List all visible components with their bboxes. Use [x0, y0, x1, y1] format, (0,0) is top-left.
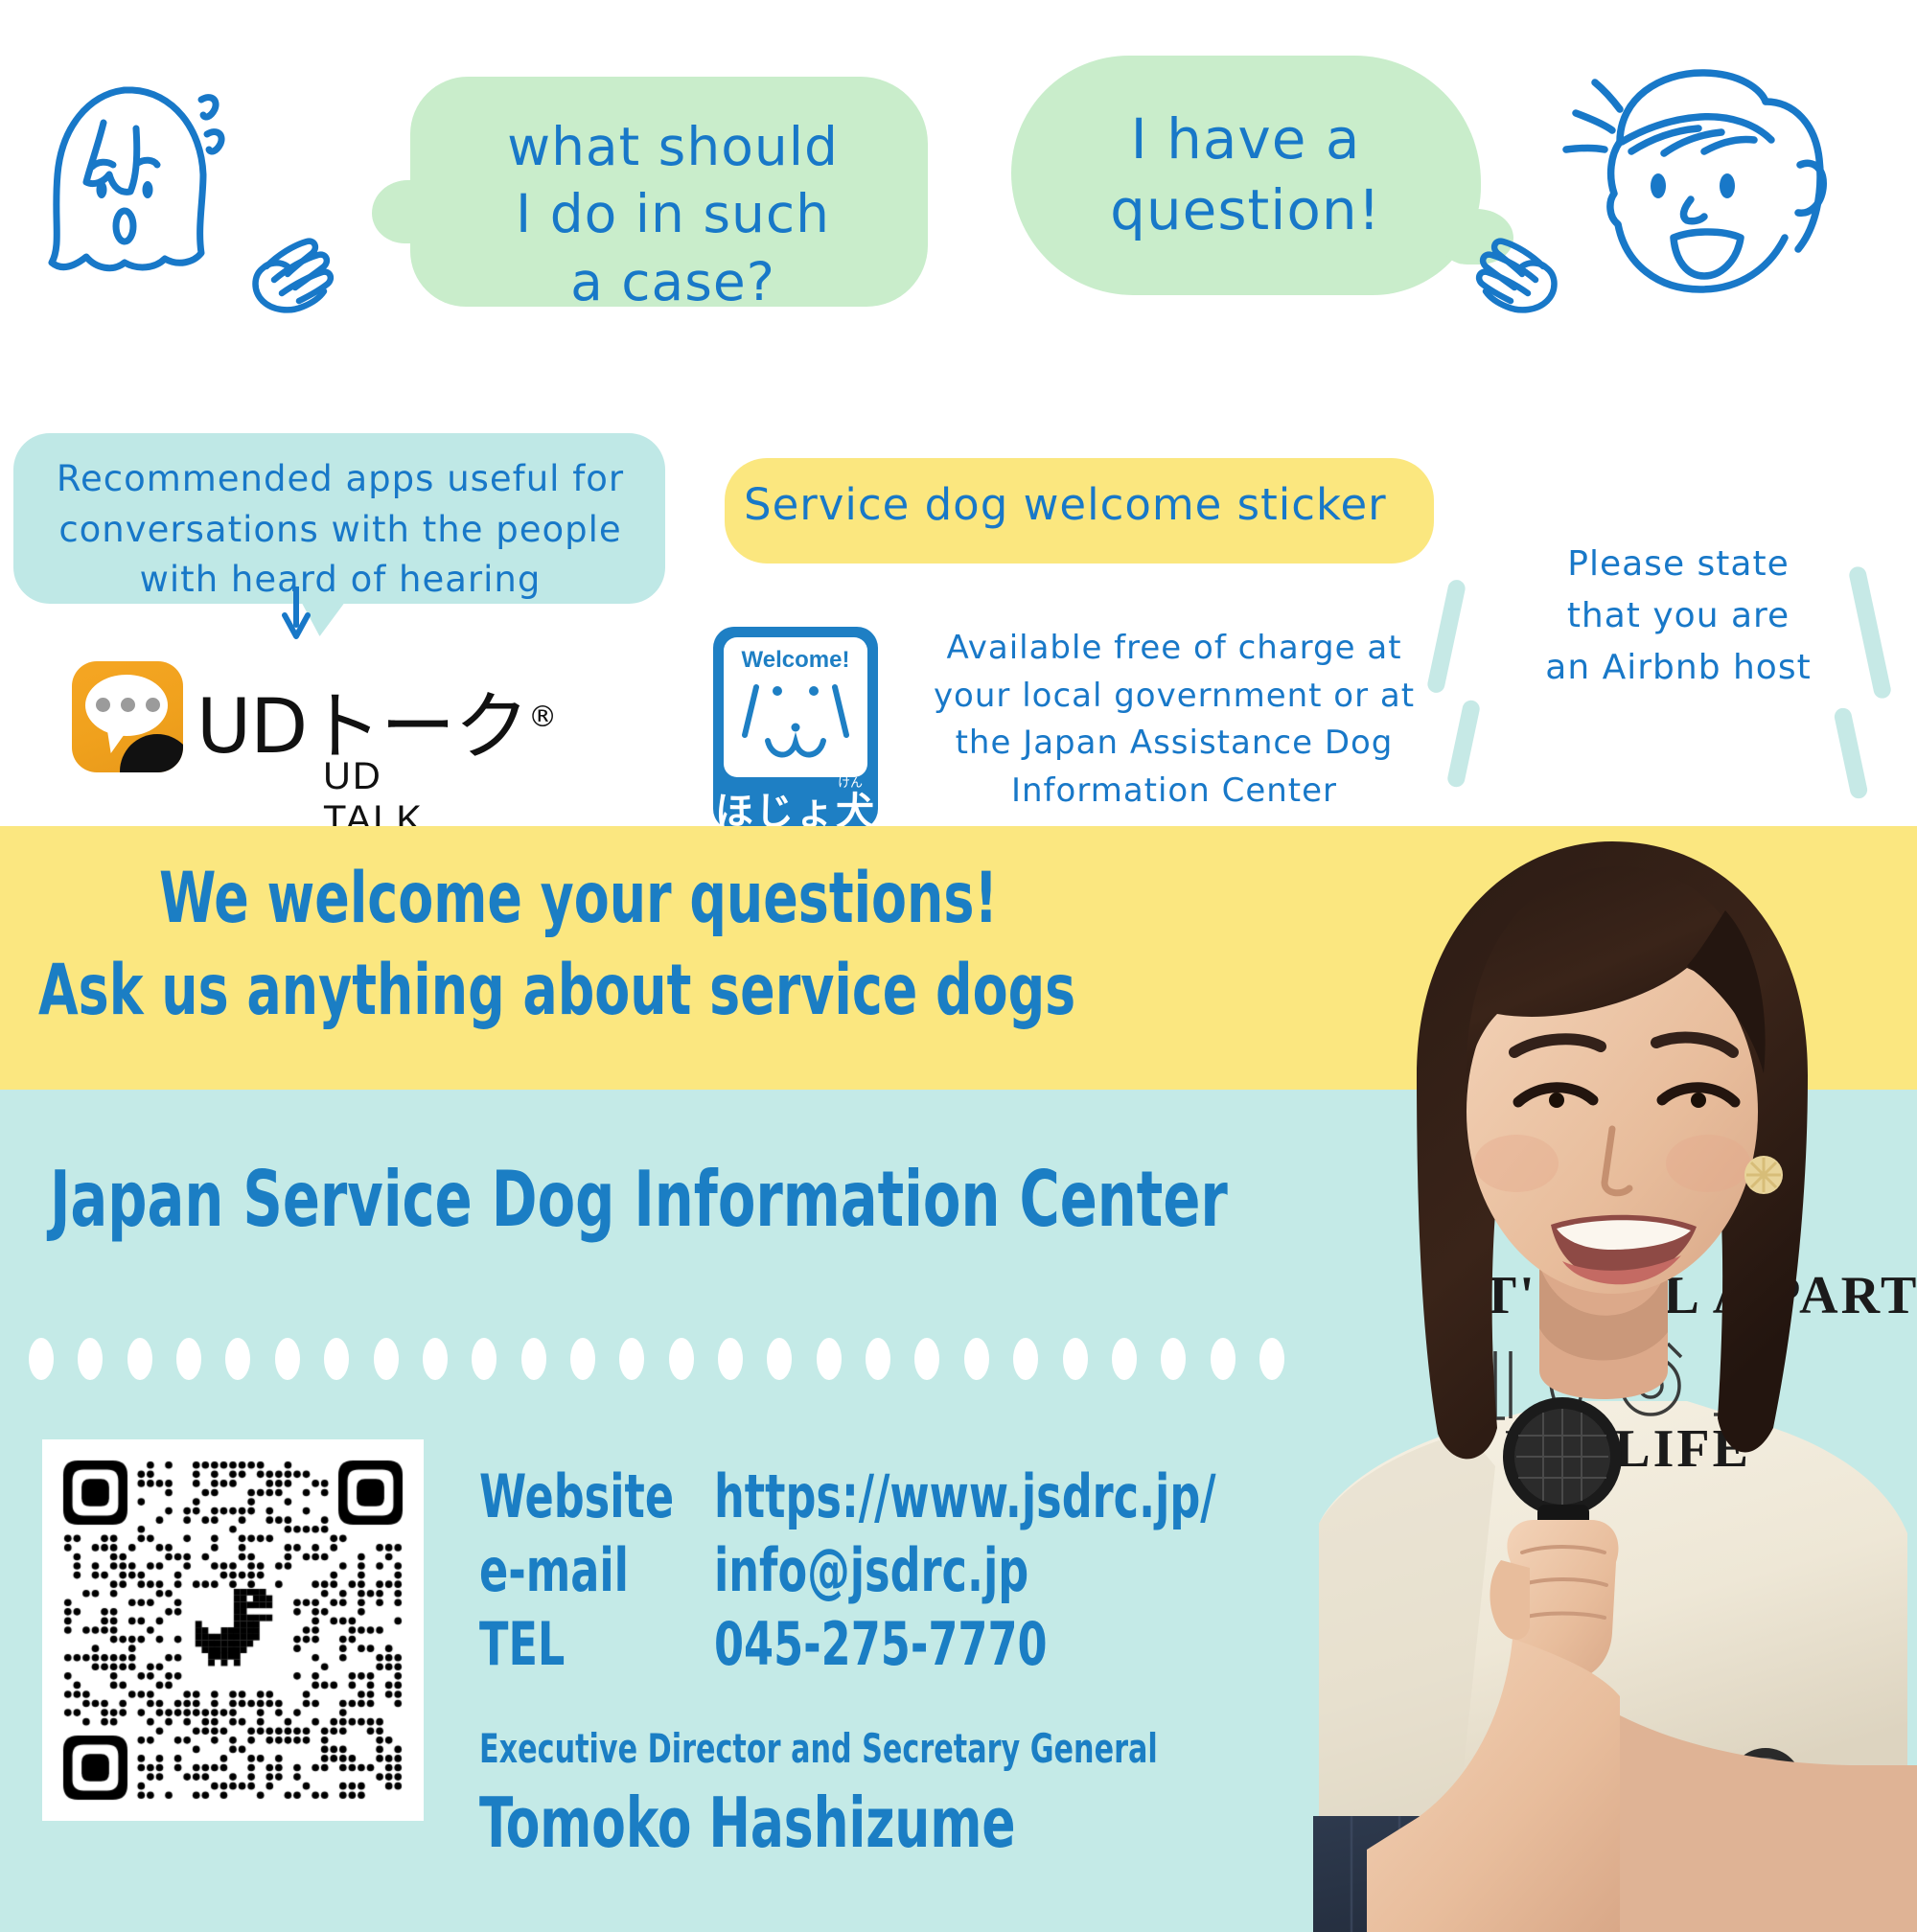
tel-value[interactable]: 045-275-7770	[714, 1609, 1048, 1679]
divider-dot	[521, 1338, 546, 1380]
divider-dot	[669, 1338, 694, 1380]
divider-dot	[29, 1338, 54, 1380]
speech-bubble-right-text: I have a question!	[1028, 103, 1464, 245]
divider-dot	[423, 1338, 448, 1380]
apps-bubble-text: Recommended apps useful for conversation…	[29, 454, 652, 606]
qr-code-canvas[interactable]	[42, 1439, 424, 1821]
divider-dot	[1211, 1338, 1236, 1380]
divider-dot	[914, 1338, 939, 1380]
divider-dot	[374, 1338, 399, 1380]
divider-dot	[1161, 1338, 1186, 1380]
portrait-photo-tomoko-hashizume: IT'S ALL A PART MY LIFE	[1275, 795, 1917, 1932]
sticker-title-text: Service dog welcome sticker	[744, 477, 1415, 533]
top-section: what should I do in such a case? I have …	[0, 0, 1917, 826]
divider-dot	[275, 1338, 300, 1380]
divider-dot	[127, 1338, 152, 1380]
sparkle-decoration	[1833, 706, 1869, 800]
divider-dot	[1013, 1338, 1038, 1380]
bubble-left-line-2: I do in such	[433, 180, 912, 247]
divider-dot	[866, 1338, 890, 1380]
svg-text:IT'S ALL A PART: IT'S ALL A PART	[1457, 1266, 1917, 1325]
website-label: Website	[479, 1461, 667, 1531]
sticker-desc-line-3: the Japan Assistance Dog	[925, 720, 1423, 768]
banner-headline-1: We welcome your questions!	[159, 853, 998, 945]
divider-dot	[176, 1338, 201, 1380]
divider-dot	[817, 1338, 842, 1380]
banner-text-block: We welcome your questions! Ask us anythi…	[0, 853, 1342, 1038]
divider-dot	[1112, 1338, 1137, 1380]
bubble-right-line-2: question!	[1028, 174, 1464, 245]
speech-bubble-left-text: what should I do in such a case?	[433, 113, 912, 315]
airbnb-host-note: Please state that you are an Airbnb host	[1491, 539, 1865, 694]
airbnb-note-line-2: that you are	[1491, 590, 1865, 642]
divider-dot	[78, 1338, 103, 1380]
divider-dot	[324, 1338, 349, 1380]
bubble-right-line-1: I have a	[1028, 103, 1464, 174]
divider-dot	[767, 1338, 792, 1380]
representative-name: Tomoko Hashizume	[479, 1782, 1016, 1863]
dotted-divider	[29, 1334, 1284, 1384]
sparkle-decoration	[1426, 578, 1467, 694]
contact-tel-row: TEL 045-275-7770	[479, 1609, 1341, 1679]
flyer-page: what should I do in such a case? I have …	[0, 0, 1917, 1932]
email-label: e-mail	[479, 1535, 667, 1605]
man-smiling-face-illustration	[1553, 59, 1869, 309]
waving-hand-icon	[240, 213, 345, 318]
email-value[interactable]: info@jsdrc.jp	[714, 1535, 1028, 1605]
divider-dot	[718, 1338, 743, 1380]
representative-role: Executive Director and Secretary General	[479, 1725, 1158, 1772]
service-dog-welcome-sticker: Welcome! けん ほじょ犬	[713, 627, 878, 830]
arrow-down-icon	[280, 586, 312, 640]
divider-dot	[472, 1338, 497, 1380]
sparkle-decoration	[1446, 699, 1482, 789]
sticker-inner-panel: Welcome!	[724, 637, 867, 777]
tel-label: TEL	[479, 1609, 667, 1679]
apps-line-2: conversations with the people	[29, 505, 652, 556]
website-value[interactable]: https://www.jsdrc.jp/	[714, 1461, 1216, 1531]
contact-email-row: e-mail info@jsdrc.jp	[479, 1535, 1341, 1605]
divider-dot	[570, 1338, 595, 1380]
qr-code[interactable]	[42, 1439, 424, 1821]
bubble-left-line-1: what should	[433, 113, 912, 180]
divider-dot	[225, 1338, 250, 1380]
sticker-desc-line-2: your local government or at	[925, 673, 1423, 721]
airbnb-note-line-1: Please state	[1491, 539, 1865, 590]
contact-block: Website https://www.jsdrc.jp/ e-mail inf…	[479, 1461, 1341, 1683]
sticker-description: Available free of charge at your local g…	[925, 625, 1423, 816]
divider-dot	[1063, 1338, 1088, 1380]
udtalk-app-icon	[72, 661, 183, 772]
banner-headline-2: Ask us anything about service dogs	[38, 945, 1075, 1037]
registered-trademark-icon: ®	[528, 701, 556, 734]
divider-dot	[964, 1338, 989, 1380]
sticker-welcome-label: Welcome!	[724, 647, 867, 674]
divider-dot	[619, 1338, 644, 1380]
apps-line-3: with heard of hearing	[29, 555, 652, 606]
apps-line-1: Recommended apps useful for	[29, 454, 652, 505]
airbnb-note-line-3: an Airbnb host	[1491, 642, 1865, 694]
contact-website-row: Website https://www.jsdrc.jp/	[479, 1461, 1341, 1531]
organization-name: Japan Service Dog Information Center	[50, 1155, 1228, 1244]
bubble-left-line-3: a case?	[433, 248, 912, 315]
sticker-desc-line-1: Available free of charge at	[925, 625, 1423, 673]
